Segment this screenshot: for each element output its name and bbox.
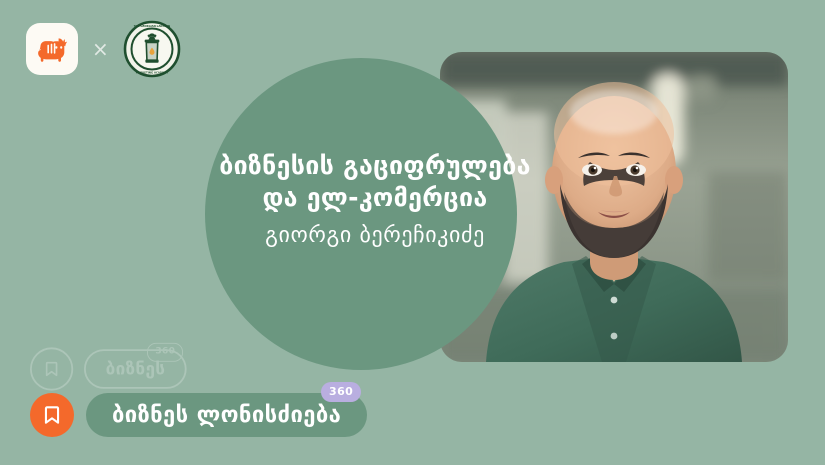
brand-lockup-ghost: ბიზნეს 360 (30, 347, 187, 390)
partner-logo-row: × THE GEORGIAN LANTERN (26, 20, 181, 78)
brand-badge-360: 360 (321, 382, 361, 402)
lantern-seal-logo: THE GEORGIAN LANTERN MARKETING ACADEMY (123, 20, 181, 78)
tiger-logo (26, 23, 78, 75)
speaker-name: გიორგი ბერეჩიკიძე (205, 219, 545, 252)
title-block: ბიზნესის გაციფრულება და ელ-კომერცია გიორ… (205, 150, 545, 252)
svg-text:THE GEORGIAN LANTERN: THE GEORGIAN LANTERN (134, 24, 170, 28)
brand-pill-ghost: ბიზნეს 360 (84, 349, 187, 389)
brand-label: ბიზნეს ლონისძიება (112, 403, 341, 428)
brand-pill[interactable]: ბიზნეს ლონისძიება 360 (86, 393, 367, 437)
svg-text:MARKETING ACADEMY: MARKETING ACADEMY (135, 71, 168, 75)
logo-separator-icon: × (92, 39, 109, 59)
brand-lockup[interactable]: ბიზნეს ლონისძიება 360 (30, 393, 367, 437)
presentation-slide: × THE GEORGIAN LANTERN (0, 0, 825, 465)
bookmark-icon-ghost (30, 347, 73, 390)
title-line-1: ბიზნესის გაციფრულება (205, 150, 545, 182)
brand-badge-360-ghost: 360 (147, 343, 183, 362)
brand-label-ghost: ბიზნეს (106, 359, 166, 379)
bookmark-icon[interactable] (30, 393, 74, 437)
title-line-2: და ელ-კომერცია (205, 182, 545, 214)
